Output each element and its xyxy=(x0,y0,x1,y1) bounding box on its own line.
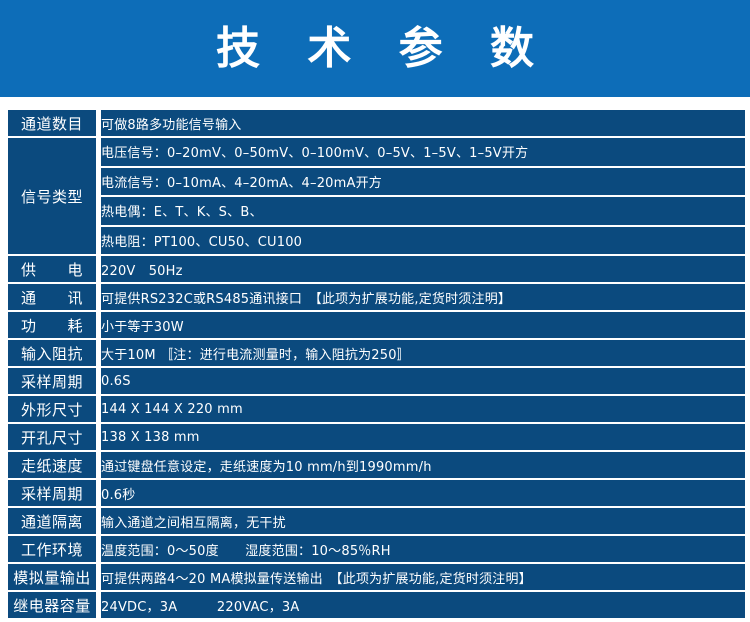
table-row: 采样周期0.6S xyxy=(8,368,745,394)
spec-value-cell: 144 X 144 X 220 mm xyxy=(101,396,745,422)
spec-value-cell: 输入通道之间相互隔离，无干扰 xyxy=(101,508,745,534)
spec-value-cell: 24VDC，3A 220VAC，3A xyxy=(101,592,745,618)
technical-parameters-table: 通道数目可做8路多功能信号输入信号类型电压信号：0–20mV、0–50mV、0–… xyxy=(3,108,750,620)
spec-value-cell: 温度范围：0～50度 湿度范围：10～85％RH xyxy=(101,536,745,562)
spec-label-cell: 输入阻抗 xyxy=(8,340,96,366)
spec-value-cell: 可提供两路4～20 MA模拟量传送输出 【此项为扩展功能,定货时须注明】 xyxy=(101,564,745,590)
spec-label-cell: 工作环境 xyxy=(8,536,96,562)
spec-value-cell: 电流信号：0–10mA、4–20mA、4–20mA开方 xyxy=(101,168,745,196)
spec-value-cell: 通过键盘任意设定，走纸速度为10 mm/h到1990mm/h xyxy=(101,452,745,478)
spec-value-cell: 可做8路多功能信号输入 xyxy=(101,110,745,136)
table-row: 走纸速度通过键盘任意设定，走纸速度为10 mm/h到1990mm/h xyxy=(8,452,745,478)
table-row: 供 电220V 50Hz xyxy=(8,256,745,282)
spec-label-cell: 供 电 xyxy=(8,256,96,282)
spec-label-cell: 继电器容量 xyxy=(8,592,96,618)
table-row: 电流信号：0–10mA、4–20mA、4–20mA开方 xyxy=(8,168,745,196)
table-row: 通道隔离输入通道之间相互隔离，无干扰 xyxy=(8,508,745,534)
spec-value-cell: 0.6秒 xyxy=(101,480,745,506)
spec-value-cell: 138 X 138 mm xyxy=(101,424,745,450)
table-row: 通 讯可提供RS232C或RS485通讯接口 【此项为扩展功能,定货时须注明】 xyxy=(8,284,745,310)
page-title: 技 术 参 数 xyxy=(200,27,550,71)
spec-label-cell: 功 耗 xyxy=(8,312,96,338)
table-row: 功 耗小于等于30W xyxy=(8,312,745,338)
spec-label-cell: 采样周期 xyxy=(8,480,96,506)
spec-value-cell: 热电偶：E、T、K、S、B、 xyxy=(101,197,745,225)
table-row: 信号类型电压信号：0–20mV、0–50mV、0–100mV、0–5V、1–5V… xyxy=(8,138,745,166)
spec-label-cell: 外形尺寸 xyxy=(8,396,96,422)
table-row: 输入阻抗大于10M 〚注：进行电流测量时，输入阻抗为250〛 xyxy=(8,340,745,366)
spec-label-cell: 通道数目 xyxy=(8,110,96,136)
spec-label-cell: 模拟量输出 xyxy=(8,564,96,590)
spec-label-cell: 采样周期 xyxy=(8,368,96,394)
table-row: 采样周期0.6秒 xyxy=(8,480,745,506)
spec-label-cell: 开孔尺寸 xyxy=(8,424,96,450)
spec-value-cell: 大于10M 〚注：进行电流测量时，输入阻抗为250〛 xyxy=(101,340,745,366)
spec-label-cell: 信号类型 xyxy=(8,138,96,254)
table-row: 外形尺寸144 X 144 X 220 mm xyxy=(8,396,745,422)
table-row: 工作环境温度范围：0～50度 湿度范围：10～85％RH xyxy=(8,536,745,562)
table-row: 热电偶：E、T、K、S、B、 xyxy=(8,197,745,225)
spec-value-cell: 220V 50Hz xyxy=(101,256,745,282)
table-row: 继电器容量24VDC，3A 220VAC，3A xyxy=(8,592,745,618)
table-row: 通道数目可做8路多功能信号输入 xyxy=(8,110,745,136)
spec-label-cell: 通 讯 xyxy=(8,284,96,310)
spec-label-cell: 走纸速度 xyxy=(8,452,96,478)
table-row: 热电阻：PT100、CU50、CU100 xyxy=(8,227,745,255)
spec-value-cell: 电压信号：0–20mV、0–50mV、0–100mV、0–5V、1–5V、1–5… xyxy=(101,138,745,166)
spec-value-cell: 可提供RS232C或RS485通讯接口 【此项为扩展功能,定货时须注明】 xyxy=(101,284,745,310)
spec-value-cell: 热电阻：PT100、CU50、CU100 xyxy=(101,227,745,255)
spec-value-cell: 0.6S xyxy=(101,368,745,394)
spec-value-cell: 小于等于30W xyxy=(101,312,745,338)
table-row: 模拟量输出可提供两路4～20 MA模拟量传送输出 【此项为扩展功能,定货时须注明… xyxy=(8,564,745,590)
page-header-banner: 技 术 参 数 xyxy=(0,0,750,97)
table-row: 开孔尺寸138 X 138 mm xyxy=(8,424,745,450)
spec-label-cell: 通道隔离 xyxy=(8,508,96,534)
spec-sheet-page: 技 术 参 数 通道数目可做8路多功能信号输入信号类型电压信号：0–20mV、0… xyxy=(0,0,750,622)
spec-table-container: 通道数目可做8路多功能信号输入信号类型电压信号：0–20mV、0–50mV、0–… xyxy=(0,97,750,620)
